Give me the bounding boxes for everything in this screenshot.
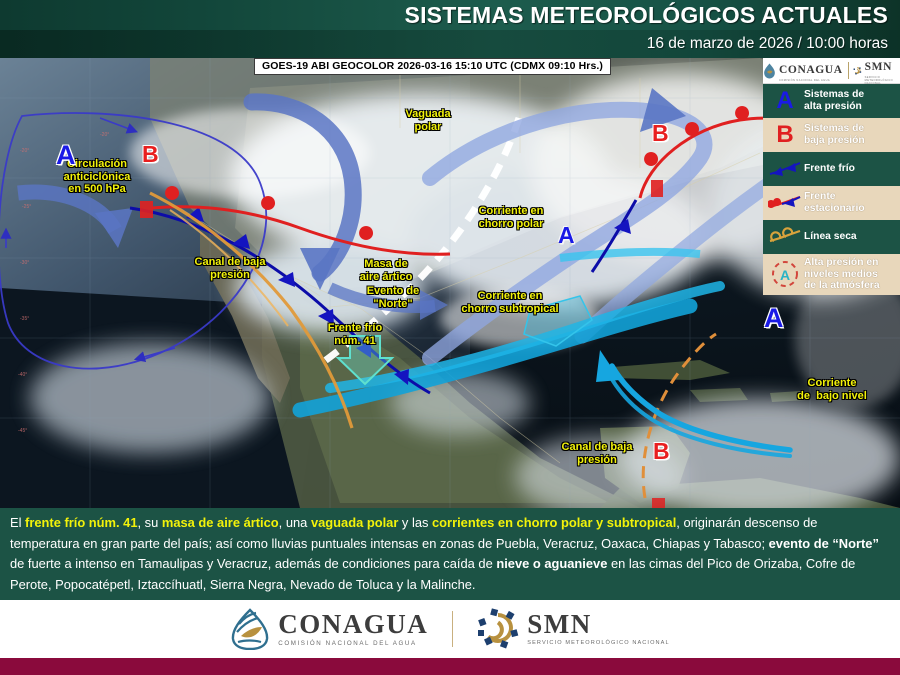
legend-smn-name: SMN	[865, 61, 892, 73]
legend-panel: CONAGUA COMISIÓN NACIONAL DEL AGUA SMN S…	[763, 58, 900, 295]
legend-brand-header: CONAGUA COMISIÓN NACIONAL DEL AGUA SMN S…	[763, 58, 900, 84]
cold-front-icon	[768, 159, 802, 179]
smn-logo-icon	[477, 608, 519, 650]
footer-divider	[452, 611, 453, 647]
svg-text:-20°: -20°	[100, 132, 109, 138]
legend-item-mid-level-high[interactable]: A Alta presión en niveles medios de la a…	[763, 254, 900, 295]
legend-item-label: Alta presión en niveles medios de la atm…	[804, 257, 880, 292]
page-title: SISTEMAS METEOROLÓGICOS ACTUALES	[405, 2, 888, 29]
satellite-timestamp-label: GOES-19 ABI GEOCOLOR 2026-03-16 15:10 UT…	[254, 58, 611, 75]
legend-item-dry-line[interactable]: Línea seca	[763, 220, 900, 254]
header-title-bar: SISTEMAS METEOROLÓGICOS ACTUALES	[0, 0, 900, 30]
stationary-front-icon	[768, 193, 802, 213]
legend-item-low-pressure[interactable]: B Sistemas de baja presión	[763, 118, 900, 152]
footer-smn-subtitle: SERVICIO METEOROLÓGICO NACIONAL	[527, 640, 669, 647]
svg-text:-30°: -30°	[20, 260, 29, 266]
svg-text:-35°: -35°	[20, 316, 29, 322]
svg-text:-20°: -20°	[20, 148, 29, 154]
letter-a-blue-icon: A	[766, 89, 804, 113]
legend-item-label: Sistemas de baja presión	[804, 123, 865, 146]
legend-conagua-subtitle: COMISIÓN NACIONAL DEL AGUA	[779, 79, 843, 82]
legend-item-label: Frente frío	[804, 163, 855, 175]
mid-level-high-pressure-icon: A	[769, 259, 801, 289]
conagua-drop-icon	[763, 63, 776, 79]
footer-conagua-name: CONAGUA	[278, 609, 428, 639]
dry-line-icon	[768, 227, 802, 247]
forecast-description-text: El frente frío núm. 41, su masa de aire …	[10, 513, 890, 595]
footer-accent-bar	[0, 658, 900, 675]
weather-bulletin-page: SISTEMAS METEOROLÓGICOS ACTUALES 16 de m…	[0, 0, 900, 675]
page-header: SISTEMAS METEOROLÓGICOS ACTUALES 16 de m…	[0, 0, 900, 58]
legend-item-stationary-front[interactable]: Frente estacionario	[763, 186, 900, 220]
svg-text:-45°: -45°	[18, 428, 27, 434]
legend-item-label: Sistemas de alta presión	[804, 89, 864, 112]
footer-smn-name: SMN	[527, 609, 592, 639]
page-footer: CONAGUA COMISIÓN NACIONAL DEL AGUA SMN S…	[0, 600, 900, 658]
footer-conagua-subtitle: COMISIÓN NACIONAL DEL AGUA	[278, 640, 428, 647]
letter-b-red-icon: B	[766, 123, 804, 147]
bulletin-datetime: 16 de marzo de 2026 / 10:00 horas	[647, 35, 888, 53]
forecast-description-panel: El frente frío núm. 41, su masa de aire …	[0, 508, 900, 600]
legend-item-high-pressure[interactable]: A Sistemas de alta presión	[763, 84, 900, 118]
footer-conagua-brand: CONAGUA COMISIÓN NACIONAL DEL AGUA	[230, 608, 428, 650]
svg-text:-25°: -25°	[22, 204, 31, 210]
legend-smn-subtitle: SERVICIO METEOROLÓGICO NACIONAL	[865, 76, 900, 85]
legend-item-label: Línea seca	[804, 231, 857, 243]
smn-spiral-icon	[853, 63, 861, 78]
legend-conagua-name: CONAGUA	[779, 64, 843, 76]
legend-item-cold-front[interactable]: Frente frío	[763, 152, 900, 186]
legend-item-label: Frente estacionario	[804, 191, 865, 214]
svg-text:A: A	[780, 267, 790, 283]
legend-brand-divider	[848, 62, 849, 79]
svg-text:-40°: -40°	[18, 372, 27, 378]
footer-smn-brand: SMN SERVICIO METEOROLÓGICO NACIONAL	[477, 608, 669, 650]
conagua-logo-icon	[230, 608, 270, 650]
header-date-bar: 16 de marzo de 2026 / 10:00 horas	[0, 30, 900, 58]
